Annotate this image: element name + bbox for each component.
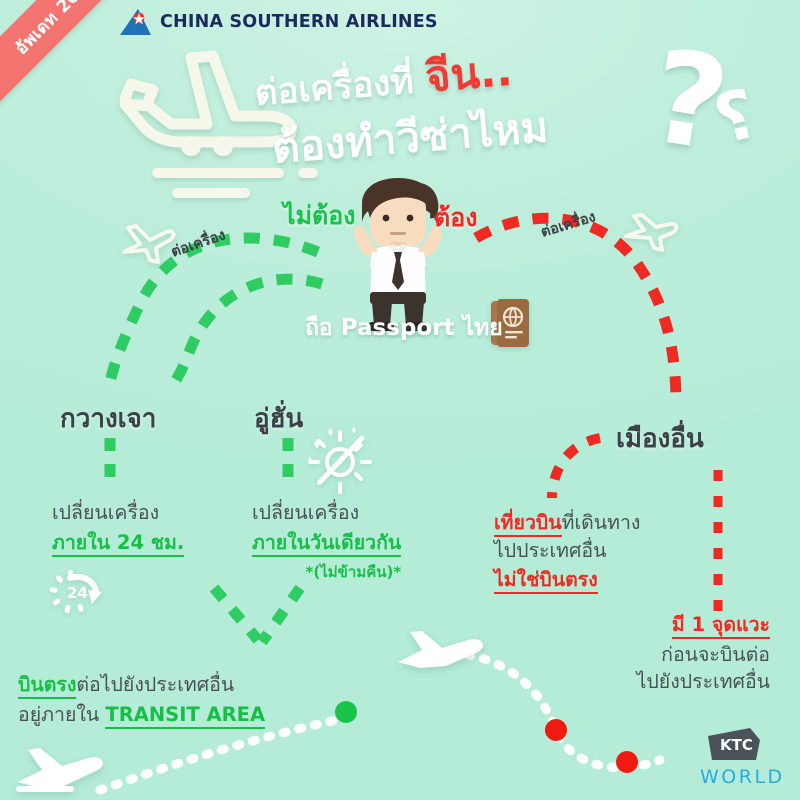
ktc-mark-icon: KTC [704, 726, 762, 764]
arc-merge-left [214, 588, 258, 640]
onestop-highlight: มี 1 จุดแวะ [672, 613, 770, 639]
other-highlight-1: เที่ยวบิน [494, 511, 562, 537]
airline-tail-fin-icon [118, 8, 152, 36]
copy-block-transit-area: บินตรงต่อไปยังประเทศอื่น อยู่ภายใน TRANS… [18, 672, 265, 727]
transit-stop-green-dot [335, 701, 357, 723]
other-highlight-2: ไม่ใช่บินตรง [494, 568, 598, 594]
transit-rest-1: ต่อไปยังประเทศอื่น [76, 673, 234, 696]
copy-block-one-stop: มี 1 จุดแวะ ก่อนจะบินต่อ ไปยังประเทศอื่น [560, 612, 770, 695]
guangzhou-highlight: ภายใน 24 ชม. [52, 531, 184, 557]
onestop-line-3: ไปยังประเทศอื่น [560, 669, 770, 695]
arc-merge-right [262, 588, 300, 642]
guangzhou-line-1: เปลี่ยนเครื่อง [52, 500, 184, 526]
copy-block-guangzhou: เปลี่ยนเครื่อง ภายใน 24 ชม. [52, 500, 184, 555]
airplane-takeoff-icon [8, 742, 112, 794]
transfer-label-right: ต่อเครื่อง [538, 205, 599, 243]
24-hour-clock-icon: 24 [48, 568, 104, 616]
passport-caption: ถือ Passport ไทย [305, 310, 503, 346]
other-rest-1: ที่เดินทาง [562, 511, 641, 534]
transit-stop-red-dot-2 [616, 751, 638, 773]
no-overnight-sun-icon [300, 426, 376, 496]
city-heading-wuhan: อู่ฮั่น [254, 398, 303, 439]
wuhan-highlight: ภายในวันเดียวกัน [252, 531, 401, 557]
hero-runway-bar-1 [152, 168, 284, 178]
transit-line-2-prefix: อยู่ภายใน [18, 703, 105, 726]
copy-block-wuhan: เปลี่ยนเครื่อง ภายในวันเดียวกัน *(ไม่ข้า… [252, 500, 401, 583]
ktc-mark-text: KTC [720, 736, 753, 754]
wuhan-line-1: เปลี่ยนเครื่อง [252, 500, 401, 526]
onestop-line-2: ก่อนจะบินต่อ [560, 642, 770, 668]
route-dotted-left [100, 720, 336, 790]
svg-text:24: 24 [67, 584, 88, 602]
answer-label-yes: ต้อง [434, 198, 477, 238]
ribbon-label: อัพเดท 2019 [8, 0, 103, 61]
city-heading-guangzhou: กวางเจา [60, 398, 156, 439]
ktc-world-logo: KTC WORLD [700, 726, 785, 788]
airplane-outline-icon-right [618, 212, 680, 254]
wuhan-note: *(ไม่ข้ามคืน)* [252, 563, 401, 583]
hero-runway-bar-3 [172, 188, 250, 198]
copy-block-other-cities: เที่ยวบินที่เดินทาง ไปประเทศอื่น ไม่ใช่บ… [494, 510, 640, 593]
other-line-2: ไปประเทศอื่น [494, 538, 640, 564]
arc-red-hook [552, 438, 600, 498]
ktc-world-wordmark: WORLD [700, 766, 785, 788]
transit-highlight-1: บินตรง [18, 673, 76, 699]
transit-stop-red-dot-1 [545, 719, 567, 741]
airline-logo: CHINA SOUTHERN AIRLINES [118, 8, 438, 36]
transit-area-highlight: TRANSIT AREA [105, 703, 265, 729]
answer-label-no: ไม่ต้อง [283, 196, 356, 236]
airplane-solid-icon [394, 628, 490, 672]
city-heading-other: เมืองอื่น [616, 418, 704, 459]
airline-name: CHINA SOUTHERN AIRLINES [160, 12, 438, 32]
infographic-canvas: อัพเดท 2019 CHINA SOUTHERN AIRLINES ต่อเ… [0, 0, 800, 800]
title-highlight: จีน.. [423, 46, 514, 103]
arc-left-inner [172, 279, 322, 392]
